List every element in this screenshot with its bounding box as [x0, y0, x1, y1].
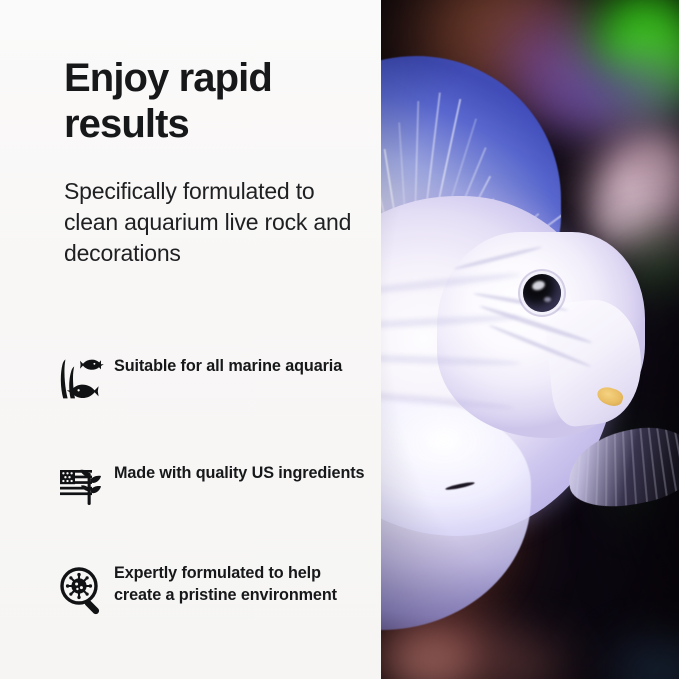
fish-eye [523, 274, 561, 312]
list-item-label: Suitable for all marine aquaria [114, 348, 342, 377]
fish-illustration [381, 0, 679, 679]
us-flag-plant-icon [52, 456, 114, 512]
seaweed-fish-icon [52, 348, 114, 404]
list-item: Suitable for all marine aquaria [52, 348, 372, 404]
list-item-label: Made with quality US ingredients [114, 456, 364, 484]
list-item-label: Expertly formulated to help create a pri… [114, 562, 372, 606]
fish-eye-highlight-secondary [544, 297, 551, 302]
page-subtitle: Specifically formulated to clean aquariu… [64, 176, 364, 268]
page-title: Enjoy rapid results [64, 56, 364, 147]
product-photo [381, 0, 679, 679]
feature-list: Suitable for all marine aquaria [52, 348, 372, 618]
list-item: Expertly formulated to help create a pri… [52, 562, 372, 618]
list-item: Made with quality US ingredients [52, 456, 372, 512]
left-content-panel: Enjoy rapid results Specifically formula… [0, 0, 381, 679]
magnifier-microbe-icon [52, 562, 114, 618]
promo-banner: Enjoy rapid results Specifically formula… [0, 0, 679, 679]
